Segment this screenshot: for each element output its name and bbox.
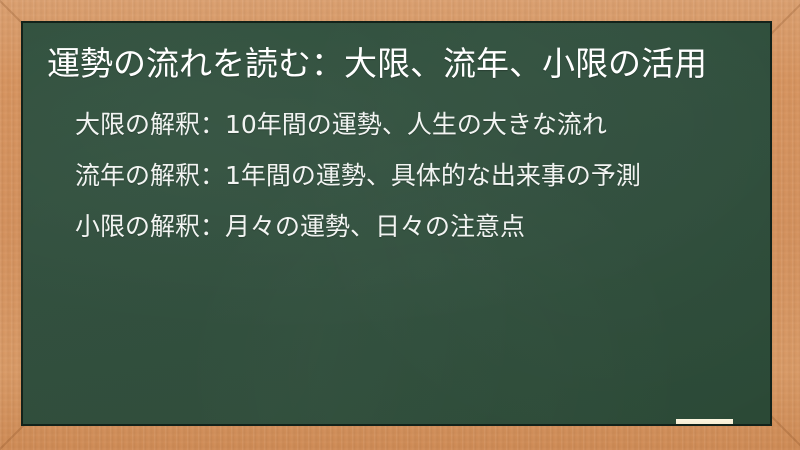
bullet-item-3: 小限の解釈：月々の運勢、日々の注意点 bbox=[75, 203, 696, 250]
frame-miter-bottom-right bbox=[770, 415, 800, 449]
chalkboard-slide: 運勢の流れを読む：大限、流年、小限の活用 大限の解釈：10年間の運勢、人生の大き… bbox=[0, 0, 800, 450]
slide-content: 運勢の流れを読む：大限、流年、小限の活用 大限の解釈：10年間の運勢、人生の大き… bbox=[23, 23, 770, 424]
bullet-item-2: 流年の解釈：1年間の運勢、具体的な出来事の予測 bbox=[75, 152, 696, 199]
chalkboard-surface: 運勢の流れを読む：大限、流年、小限の活用 大限の解釈：10年間の運勢、人生の大き… bbox=[23, 23, 770, 424]
chalkboard-bezel: 運勢の流れを読む：大限、流年、小限の活用 大限の解釈：10年間の運勢、人生の大き… bbox=[21, 21, 772, 426]
chalk-stick bbox=[676, 419, 733, 424]
frame-miter-top-right bbox=[770, 1, 800, 35]
bullet-item-1: 大限の解釈：10年間の運勢、人生の大きな流れ bbox=[75, 101, 696, 148]
slide-title: 運勢の流れを読む：大限、流年、小限の活用 bbox=[33, 33, 740, 87]
bullet-list: 大限の解釈：10年間の運勢、人生の大きな流れ 流年の解釈：1年間の運勢、具体的な… bbox=[33, 101, 740, 250]
